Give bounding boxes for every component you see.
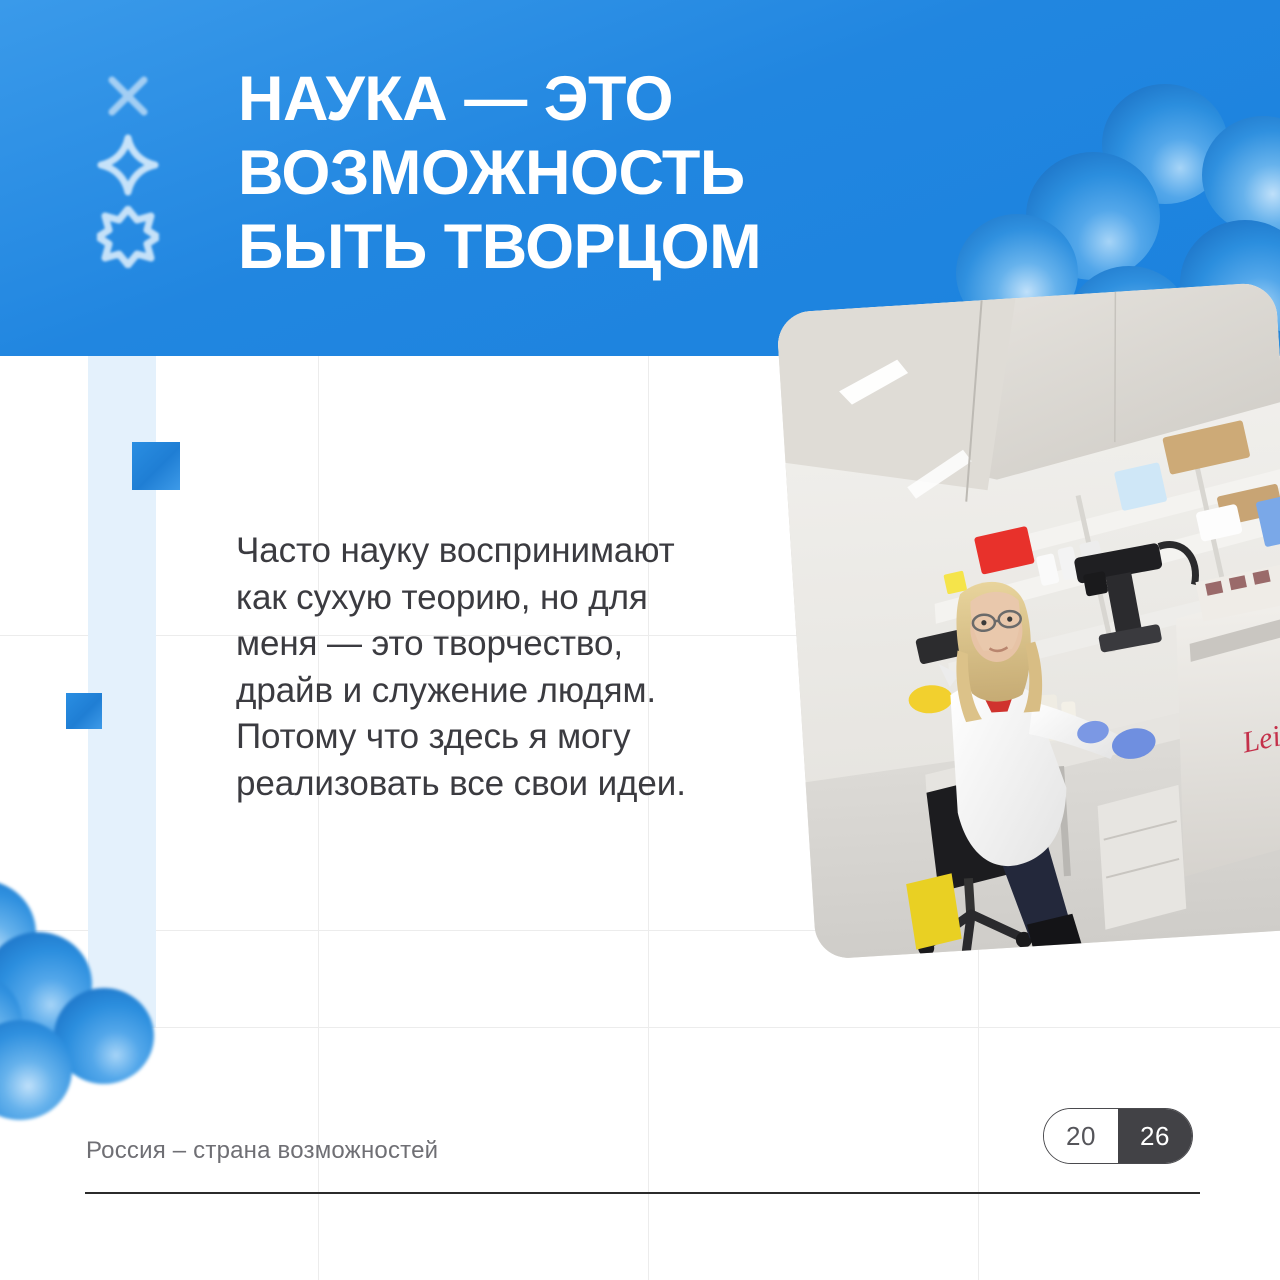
balloon	[0, 972, 22, 1072]
balloon	[0, 880, 36, 986]
paragraph-line: Часто науку воспринимают	[236, 528, 756, 575]
pagination-indicator: 20 26	[1043, 1108, 1193, 1164]
slide-canvas: НАУКА — ЭТО ВОЗМОЖНОСТЬ БЫТЬ ТВОРЦОМ	[0, 0, 1280, 1280]
diamond-star-icon	[97, 134, 159, 196]
page-total: 26	[1118, 1109, 1192, 1163]
balloon	[1102, 84, 1228, 204]
paragraph-line: как сухую теорию, но для	[236, 575, 756, 622]
title-line-1: НАУКА — ЭТО	[238, 62, 878, 136]
header-glyph-group	[86, 68, 170, 268]
paragraph-line: Потому что здесь я могу	[236, 714, 756, 761]
balloon	[1202, 116, 1280, 234]
flower-star-icon	[97, 206, 159, 268]
balloon	[1026, 152, 1160, 280]
body-paragraph: Часто науку воспринимают как сухую теори…	[236, 528, 756, 807]
decor-square-small	[66, 693, 102, 729]
page-title: НАУКА — ЭТО ВОЗМОЖНОСТЬ БЫТЬ ТВОРЦОМ	[238, 62, 878, 284]
paragraph-line: меня — это творчество,	[236, 621, 756, 668]
lab-photo: Leica	[776, 282, 1280, 960]
title-line-2: ВОЗМОЖНОСТЬ	[238, 136, 878, 210]
lab-photo-illustration: Leica	[776, 282, 1280, 960]
footer-caption: Россия – страна возможностей	[86, 1137, 438, 1165]
page-current: 20	[1044, 1109, 1118, 1163]
paragraph-line: драйв и служение людям.	[236, 668, 756, 715]
paragraph-line: реализовать все свои идеи.	[236, 761, 756, 808]
grid-line-horizontal	[0, 1027, 1280, 1028]
footer-divider	[85, 1192, 1200, 1194]
decor-square-large	[132, 442, 180, 490]
balloon	[0, 932, 92, 1036]
x-cross-icon	[100, 68, 156, 124]
title-line-3: БЫТЬ ТВОРЦОМ	[238, 210, 878, 284]
balloon	[0, 1020, 72, 1120]
